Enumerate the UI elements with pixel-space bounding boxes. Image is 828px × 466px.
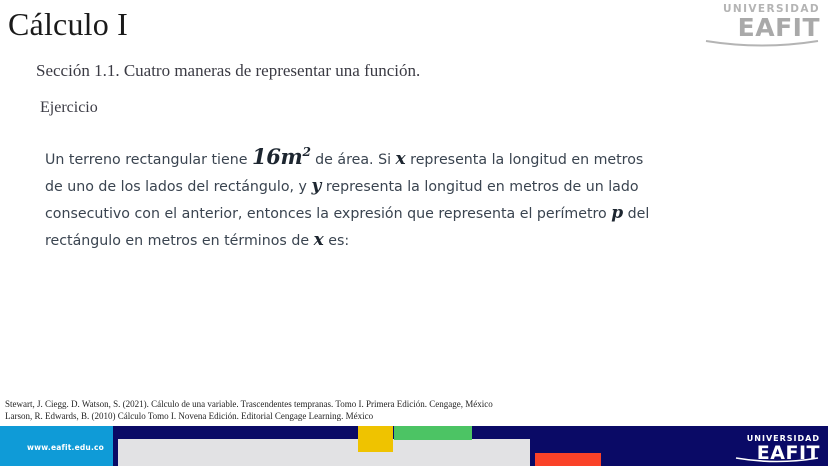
body-line-4: rectángulo en metros en términos de x es… [45, 227, 725, 254]
footer-gray-block [118, 439, 530, 466]
slide-canvas: Cálculo I UNIVERSIDAD EAFIT Sección 1.1.… [0, 0, 828, 466]
page-title: Cálculo I [8, 4, 128, 44]
body-text: Un terreno rectangular tiene [45, 152, 252, 168]
body-line-3: consecutivo con el anterior, entonces la… [45, 200, 725, 227]
logo-arc-icon [704, 40, 820, 49]
logo-arc-icon [734, 457, 820, 464]
math-var-y: y [311, 176, 321, 196]
footer-cyan-block: www.eafit.edu.co [0, 426, 113, 466]
citation-line: Stewart, J. Ciegg. D. Watson, S. (2021).… [5, 398, 493, 410]
citation-line: Larson, R. Edwards, B. (2010) Cálculo To… [5, 410, 493, 422]
body-text: es: [324, 233, 349, 249]
eafit-logo-header: UNIVERSIDAD EAFIT [704, 3, 820, 49]
citations-block: Stewart, J. Ciegg. D. Watson, S. (2021).… [5, 398, 493, 422]
math-var-p: p [611, 203, 623, 223]
math-var-x: x [314, 230, 324, 250]
footer-green-block [394, 426, 472, 440]
body-text: consecutivo con el anterior, entonces la… [45, 206, 611, 222]
exercise-label: Ejercicio [40, 97, 98, 119]
body-text: del [623, 206, 649, 222]
body-text: de área. Si [311, 152, 396, 168]
math-exponent: 2 [302, 145, 310, 159]
body-text: representa la longitud en metros de un l… [321, 179, 638, 195]
exercise-body: Un terreno rectangular tiene 16m2 de áre… [45, 139, 725, 254]
math-area: 16m2 [252, 144, 311, 169]
body-text: representa la longitud en metros [406, 152, 644, 168]
logo-eafit-text: EAFIT [704, 15, 820, 41]
footer-bar: www.eafit.edu.co UNIVERSIDAD EAFIT [0, 426, 828, 466]
footer-website-link[interactable]: www.eafit.edu.co [27, 443, 104, 452]
body-line-2: de uno de los lados del rectángulo, y y … [45, 173, 725, 200]
math-var-x: x [396, 149, 406, 169]
eafit-logo-footer: UNIVERSIDAD EAFIT [734, 434, 820, 464]
section-heading: Sección 1.1. Cuatro maneras de represent… [36, 60, 420, 82]
footer-yellow-block [358, 426, 393, 452]
body-text: de uno de los lados del rectángulo, y [45, 179, 311, 195]
footer-red-block [535, 453, 601, 466]
body-line-1: Un terreno rectangular tiene 16m2 de áre… [45, 139, 725, 173]
body-text: rectángulo en metros en términos de [45, 233, 314, 249]
